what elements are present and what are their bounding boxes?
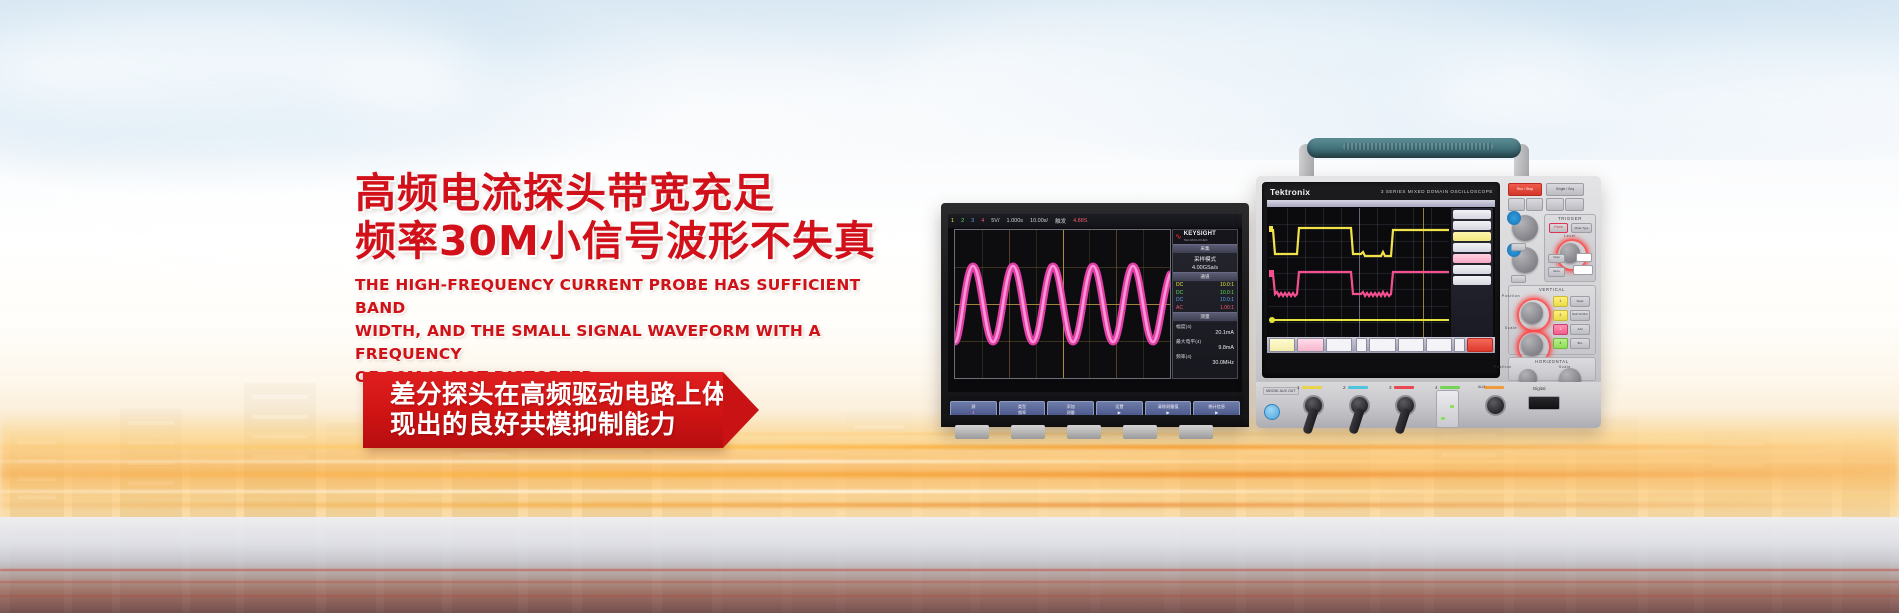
keysight-stand-foot [1123, 425, 1157, 439]
digital-port-label: Digital [1533, 386, 1546, 391]
trigger-source-indicator [1573, 265, 1593, 275]
readout-badge [1453, 243, 1491, 252]
ribbon-text: 差分探头在高频驱动电路上体 现出的良好共模抑制能力 [363, 380, 728, 440]
softkey-source-l2: 4 [972, 410, 974, 415]
readout-badge-ch1 [1453, 232, 1491, 241]
ribbon-line-1: 差分探头在高频驱动电路上体 [390, 380, 728, 410]
knob-a-indicator [1507, 211, 1521, 225]
ch2-coupling: DC [1176, 290, 1183, 298]
channel-2-button[interactable]: 2 [1553, 310, 1568, 321]
measure-button[interactable] [1565, 198, 1584, 211]
softkey-type-l2: 频率 [1018, 410, 1026, 415]
tektronix-screen-frame: Tektronix 3 SERIES MIXED DOMAIN OSCILLOS… [1262, 182, 1500, 378]
status-delay: 1.000s [1007, 218, 1024, 224]
tektronix-bottom-bar [1267, 337, 1495, 353]
marker-ch2 [1269, 270, 1274, 277]
aux-bnc-connector[interactable] [1485, 395, 1506, 416]
ch4-ratio: 1.00:1 [1220, 305, 1234, 313]
bottom-chip-horiz[interactable] [1369, 338, 1395, 352]
current-probe-module[interactable] [1436, 390, 1459, 428]
trigger-level-label: Level [1545, 234, 1595, 238]
ch1-input-number: 1 [1297, 385, 1300, 390]
measurement-item: 最大电平(4) 9.8mA [1173, 337, 1237, 352]
keysight-brand-sub: TECHNOLOGIES [1184, 238, 1208, 242]
meas-2-value: 9.8mA [1176, 345, 1234, 351]
meas-3-value: 30.0MHz [1176, 360, 1234, 366]
tektronix-screen[interactable] [1267, 200, 1495, 353]
ch1-coupling: DC [1176, 282, 1183, 290]
headline-line-2: 频率30M小信号波形不失真 [355, 220, 935, 263]
channel-row: DC 10.0:1 [1173, 282, 1237, 290]
softkey-settings-l2: ▶ [1118, 410, 1121, 415]
bottom-chip-trig[interactable] [1398, 338, 1424, 352]
acquisition-mode: 采样模式 [1173, 254, 1237, 264]
channel-1-button[interactable]: 1 [1553, 296, 1568, 307]
ribbon-line-2: 现出的良好共模抑制能力 [390, 410, 728, 440]
status-ch4: 4 [981, 218, 984, 224]
add-button[interactable]: Add [1570, 324, 1590, 335]
ch3-color-tab [1394, 386, 1414, 389]
ch1-color-tab [1302, 386, 1322, 389]
acquisition-header: 采集 [1173, 244, 1237, 254]
ch1-ratio: 10.0:1 [1220, 282, 1234, 290]
keysight-side-panel: ∿ KEYSIGHT TECHNOLOGIES 采集 采样模式 4.00GSa/… [1172, 229, 1238, 379]
ribbon-shape: 差分探头在高频驱动电路上体 现出的良好共模抑制能力 [363, 372, 723, 448]
trigger-section-label: TRIGGER [1545, 216, 1595, 221]
readout-badge [1453, 276, 1491, 285]
readout-badge-ch2 [1453, 254, 1491, 263]
vertical-scale-knob[interactable] [1521, 334, 1543, 356]
status-trigger-label: 触发 [1055, 217, 1066, 225]
status-voltdiv: 5V/ [991, 218, 999, 224]
vertical-section-label: VERTICAL [1509, 287, 1595, 292]
cursor-button[interactable] [1546, 198, 1564, 211]
readout-badge [1453, 265, 1491, 274]
bottom-chip-ch3[interactable] [1326, 338, 1352, 352]
aux-out-label: MDO3K AUX OUT [1263, 387, 1299, 395]
keysight-waveform-grid [954, 229, 1171, 379]
keysight-stand-foot [955, 425, 989, 439]
bottom-chip-ch2[interactable] [1297, 338, 1323, 352]
measurement-header: 测量 [1173, 312, 1237, 322]
keysight-oscilloscope: 1 2 3 4 5V/ 1.000s 10.00s/ 触发 4.88S [941, 203, 1249, 427]
keysight-brand: KEYSIGHT [1184, 231, 1216, 237]
trigger-mode-type-button[interactable]: Mode Type [1571, 223, 1592, 233]
horizontal-section: HORIZONTAL Position Scale [1508, 357, 1596, 381]
tektronix-brand: Tektronix [1270, 187, 1310, 197]
channel-3-button[interactable]: 3 [1553, 324, 1568, 335]
handle-grip [1307, 138, 1521, 158]
measurement-item: 幅度(4) 20.1mA [1173, 322, 1237, 337]
ribbon-callout: 差分探头在高频驱动电路上体 现出的良好共模抑制能力 [363, 372, 723, 448]
status-trigger-src: 4.88S [1073, 218, 1087, 224]
trigger-menu-button[interactable]: Menu [1548, 267, 1565, 277]
ch4-coupling: AC [1176, 305, 1183, 313]
run-stop-badge[interactable] [1467, 338, 1493, 352]
promo-banner: 高频电流探头带宽充足 频率30M小信号波形不失真 THE HIGH-FREQUE… [0, 0, 1899, 613]
headline-line-1: 高频电流探头带宽充足 [355, 172, 935, 215]
meas-2-label: 最大电平(4) [1176, 338, 1234, 345]
marker-ch1 [1269, 226, 1273, 232]
keysight-logo: ∿ KEYSIGHT TECHNOLOGIES [1173, 230, 1237, 244]
keysight-sine-waveform [955, 230, 1170, 378]
copy-block: 高频电流探头带宽充足 频率30M小信号波形不失真 THE HIGH-FREQUE… [355, 172, 935, 389]
tektronix-body: Tektronix 3 SERIES MIXED DOMAIN OSCILLOS… [1256, 176, 1601, 386]
horizontal-section-label: HORIZONTAL [1509, 359, 1595, 364]
meas-1-label: 幅度(4) [1176, 323, 1234, 330]
keysight-screen: 1 2 3 4 5V/ 1.000s 10.00s/ 触发 4.88S [948, 214, 1242, 392]
softkey-clear-l2: ▶ [1166, 410, 1169, 415]
channel-row: DC 10.0:1 [1173, 297, 1237, 305]
aux-color-tab [1484, 386, 1504, 389]
power-button[interactable] [1264, 404, 1280, 420]
knob-b-push-button[interactable] [1511, 275, 1526, 283]
keysight-stand-foot [1067, 425, 1101, 439]
keysight-wave-mark: ∿ [1175, 233, 1182, 241]
meas-3-label: 频率(4) [1176, 353, 1234, 360]
channel-4-button[interactable]: 4 [1553, 338, 1568, 349]
acquisition-rate: 4.00GSa/s [1173, 264, 1237, 272]
bottom-chip-menu[interactable] [1356, 338, 1367, 352]
knob-a-push-button[interactable] [1511, 243, 1526, 251]
softkey-stats-l2: ▶ [1215, 410, 1218, 415]
keysight-status-bar: 1 2 3 4 5V/ 1.000s 10.00s/ 触发 4.88S [948, 214, 1242, 228]
vertical-section: VERTICAL Position Scale 1 Meas 2 Math Re… [1508, 285, 1596, 355]
vertical-position-knob[interactable] [1521, 302, 1543, 324]
softkey-add-l2: 测量 [1066, 410, 1074, 415]
status-timebase: 10.00s/ [1030, 218, 1048, 224]
measurement-item: 频率(4) 30.0MHz [1173, 352, 1237, 367]
tektronix-traces [1269, 208, 1449, 338]
subtitle-line-2: WIDTH, AND THE SMALL SIGNAL WAVEFORM WIT… [355, 320, 895, 366]
ch3-input-number: 3 [1389, 385, 1392, 390]
bottom-chip-acq[interactable] [1426, 338, 1452, 352]
channel-row: DC 10.0:1 [1173, 290, 1237, 298]
aux-input-number: AUX [1478, 385, 1485, 389]
channel-row: AC 1.00:1 [1173, 305, 1237, 313]
horizontal-position-label: Position [1473, 365, 1533, 369]
single-seq-button[interactable]: Single / Seq [1546, 183, 1584, 196]
tektronix-oscilloscope: Tektronix 3 SERIES MIXED DOMAIN OSCILLOS… [1256, 176, 1601, 430]
status-ch3: 3 [971, 218, 974, 224]
bottom-chip-save[interactable] [1454, 338, 1464, 352]
autoset-button[interactable] [1508, 198, 1525, 211]
tektronix-waveform-area [1269, 208, 1449, 338]
subtitle-line-1: THE HIGH-FREQUENCY CURRENT PROBE HAS SUF… [355, 274, 895, 320]
bottom-chip-ch1[interactable] [1269, 338, 1295, 352]
meas-button[interactable]: Meas [1570, 296, 1590, 307]
trace-ch2-magenta [1269, 272, 1449, 296]
keysight-stand-foot [1179, 425, 1213, 439]
status-ch1: 1 [951, 218, 954, 224]
trigger-slope-button[interactable]: Slope [1548, 254, 1565, 263]
channel-header: 通道 [1173, 272, 1237, 282]
keysight-stand-foot [1011, 425, 1045, 439]
ch2-color-tab [1348, 386, 1368, 389]
meas-1-value: 20.1mA [1176, 330, 1234, 336]
trigger-section: TRIGGER Force Mode Type Level Slope Menu [1544, 214, 1596, 282]
trigger-slope-indicator [1576, 253, 1592, 262]
cloud-wisp [330, 55, 970, 145]
ch2-input-number: 2 [1343, 385, 1346, 390]
force-trigger-button[interactable]: Force [1549, 223, 1568, 233]
default-setup-button[interactable] [1526, 198, 1543, 211]
tektronix-series-label: 3 SERIES MIXED DOMAIN OSCILLOSCOPE [1381, 189, 1493, 194]
trace-ch1-yellow [1269, 228, 1449, 256]
math-ref-bus-button[interactable]: Math Ref Bus [1570, 310, 1590, 321]
bus-button[interactable]: Bus [1570, 338, 1590, 349]
tektronix-control-panel: Run / Stop Single / Seq TRIGGER Force Mo… [1506, 181, 1596, 379]
tektronix-input-panel: MDO3K AUX OUT 1 2 3 4 AUX Digital [1256, 382, 1601, 428]
ch3-ratio: 10.0:1 [1220, 297, 1234, 305]
digital-port[interactable] [1528, 396, 1560, 410]
ch2-ratio: 10.0:1 [1220, 290, 1234, 298]
readout-badge [1453, 221, 1491, 230]
screen-top-strip [1267, 200, 1495, 207]
run-stop-button[interactable]: Run / Stop [1508, 183, 1542, 196]
tektronix-side-readouts [1451, 208, 1493, 338]
ch4-color-tab [1440, 386, 1460, 389]
marker-ch3 [1269, 317, 1275, 323]
status-ch2: 2 [961, 218, 964, 224]
ch3-coupling: DC [1176, 297, 1183, 305]
readout-badge [1453, 210, 1491, 219]
